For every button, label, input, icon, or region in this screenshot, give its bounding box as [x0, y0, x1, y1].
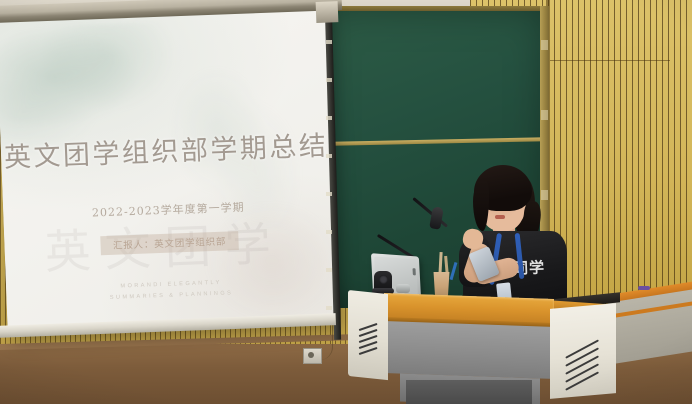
rail-clip	[326, 40, 332, 44]
rail-clip	[326, 116, 332, 120]
rail-clip	[326, 230, 332, 234]
lectern	[348, 290, 620, 404]
wall-socket-port	[308, 352, 314, 358]
mouth	[495, 215, 505, 219]
camera-lens	[379, 275, 388, 284]
blackboard-top-trim	[318, 6, 546, 11]
classroom-photo-scene: 英文团学 英文团学组织部学期总结 2022-2023学年度第一学期 汇报人：英文…	[0, 0, 692, 404]
lectern-base-shadow	[406, 380, 532, 404]
projection-screen: 英文团学 英文团学组织部学期总结 2022-2023学年度第一学期 汇报人：英文…	[0, 6, 338, 336]
tablet-button	[413, 268, 416, 275]
post-clip	[541, 40, 548, 50]
speaker-vent	[359, 347, 378, 355]
projector-screen-housing-cap	[316, 1, 339, 23]
rail-clip	[326, 192, 332, 196]
presenter: 同学	[455, 165, 595, 310]
post-clip	[541, 110, 548, 120]
rail-clip	[326, 154, 332, 158]
rail-clip	[326, 78, 332, 82]
rail-clip	[326, 306, 332, 310]
lectern-side-panel-left	[348, 290, 388, 380]
presentation-slide: 英文团学 英文团学组织部学期总结 2022-2023学年度第一学期 汇报人：英文…	[0, 6, 338, 336]
lectern-front-panel	[384, 321, 556, 379]
side-desk-body	[608, 289, 692, 365]
rail-clip	[326, 268, 332, 272]
lectern-side-panel-right	[550, 303, 616, 399]
wall-seam-horizontal	[550, 60, 670, 61]
side-desk-object	[638, 286, 650, 290]
speaker-vent	[565, 371, 598, 390]
